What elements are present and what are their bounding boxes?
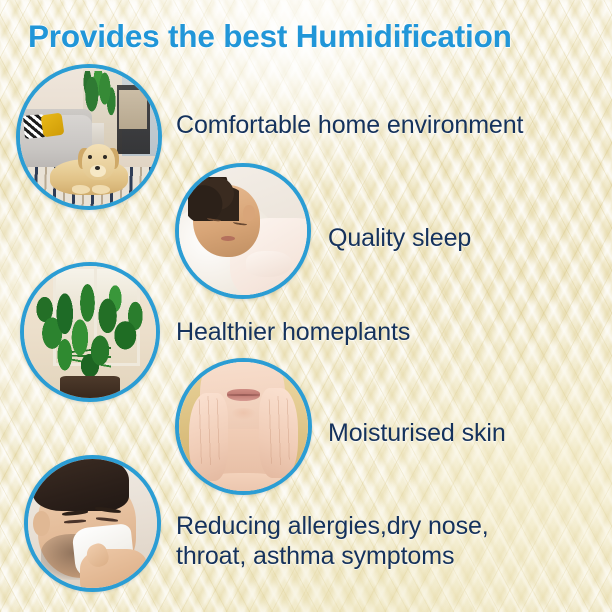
man-ear [33,511,50,537]
plant-leaves [27,277,154,385]
man-blowing-nose-photo [28,459,157,588]
finger-lines-left [192,396,226,466]
humidifier-benefits-poster: Provides the best Humidification [0,0,612,612]
woman-face-photo [179,362,308,491]
living-room-photo [20,68,158,206]
benefit-image-quality-sleep [175,163,311,299]
houseplant-photo [24,266,156,398]
benefit-image-comfortable-home [16,64,162,210]
benefit-caption-moisturised-skin: Moisturised skin [328,418,604,448]
plant-pot [60,376,121,398]
yellow-pillow [41,112,65,137]
benefit-caption-healthier-homeplants: Healthier homeplants [176,317,604,347]
baby-arm [246,251,292,277]
dog-eye-left [88,155,92,159]
benefit-caption-comfortable-home: Comfortable home environment [176,110,604,140]
benefit-image-moisturised-skin [175,358,312,495]
benefit-image-healthier-homeplants [20,262,160,402]
benefit-caption-quality-sleep: Quality sleep [328,223,604,253]
man-hair [33,459,128,511]
baby-ear [243,205,255,220]
benefit-caption-reducing-allergies: Reducing allergies,dry nose, throat, ast… [176,511,606,571]
dog-paw-right [92,185,110,193]
dog-nose [95,166,101,170]
room-shelf-insert [119,90,147,129]
dog-paw-left [72,185,90,193]
page-title: Provides the best Humidification [28,18,606,55]
sleeping-baby-photo [179,167,307,295]
benefit-image-reducing-allergies [24,455,161,592]
baby-hair [188,177,239,221]
finger-lines-right [262,396,296,466]
dog-eye-right [103,155,107,159]
